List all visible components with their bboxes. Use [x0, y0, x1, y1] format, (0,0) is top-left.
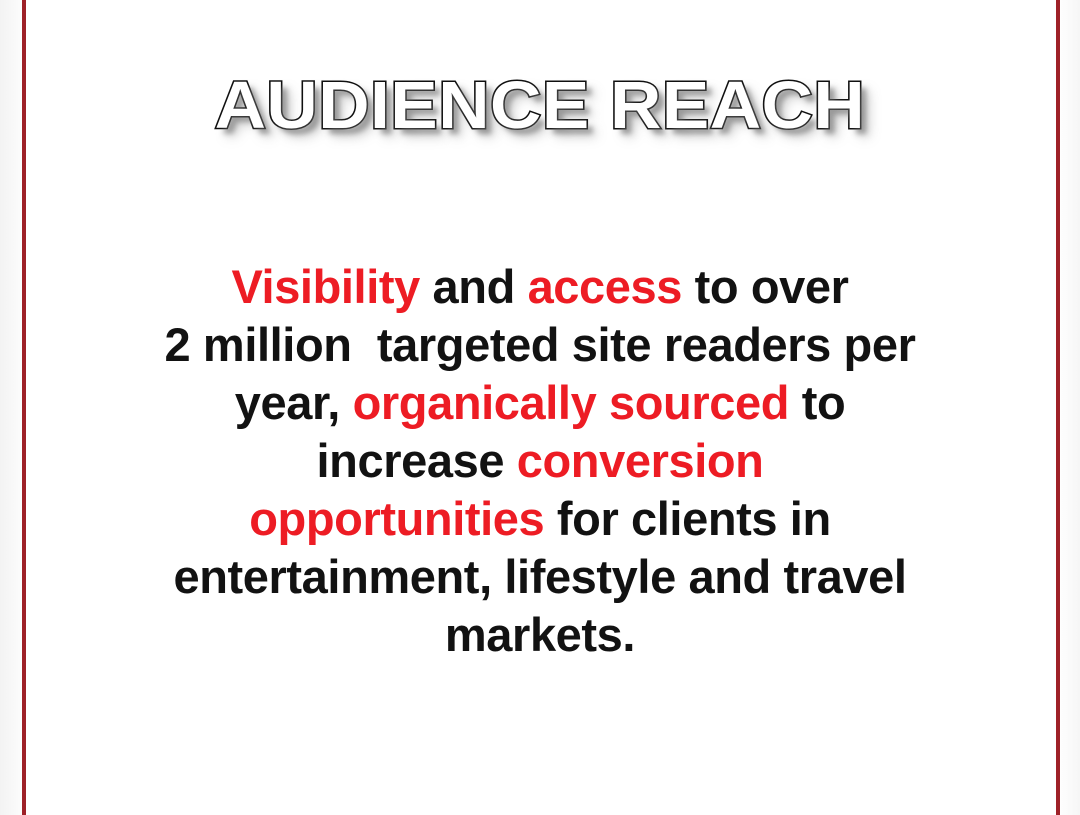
body-line: opportunities for clients in — [55, 490, 1025, 548]
body-segment: access — [528, 260, 682, 313]
body-line: Visibility and access to over — [55, 258, 1025, 316]
body-segment: year, — [235, 376, 353, 429]
body-segment: entertainment, lifestyle and travel — [173, 550, 906, 603]
body-segment: conversion — [517, 434, 764, 487]
body-segment: markets. — [445, 608, 635, 661]
body-paragraph: Visibility and access to over 2 million … — [0, 258, 1080, 664]
body-segment: opportunities — [249, 492, 544, 545]
body-line: 2 million targeted site readers per — [55, 316, 1025, 374]
body-segment: and — [420, 260, 528, 313]
body-segment: to — [789, 376, 845, 429]
body-segment: increase — [317, 434, 517, 487]
body-line: increase conversion — [55, 432, 1025, 490]
body-segment: Visibility — [231, 260, 419, 313]
body-segment: for clients in — [544, 492, 831, 545]
slide-canvas: AUDIENCE REACH Visibility and access to … — [0, 0, 1080, 815]
body-segment: 2 million targeted site readers per — [165, 318, 916, 371]
body-line: markets. — [55, 606, 1025, 664]
page-title: AUDIENCE REACH — [215, 72, 866, 139]
body-line: entertainment, lifestyle and travel — [55, 548, 1025, 606]
headline-container: AUDIENCE REACH — [0, 72, 1080, 139]
body-segment: to over — [682, 260, 849, 313]
body-segment: organically sourced — [353, 376, 789, 429]
body-line: year, organically sourced to — [55, 374, 1025, 432]
